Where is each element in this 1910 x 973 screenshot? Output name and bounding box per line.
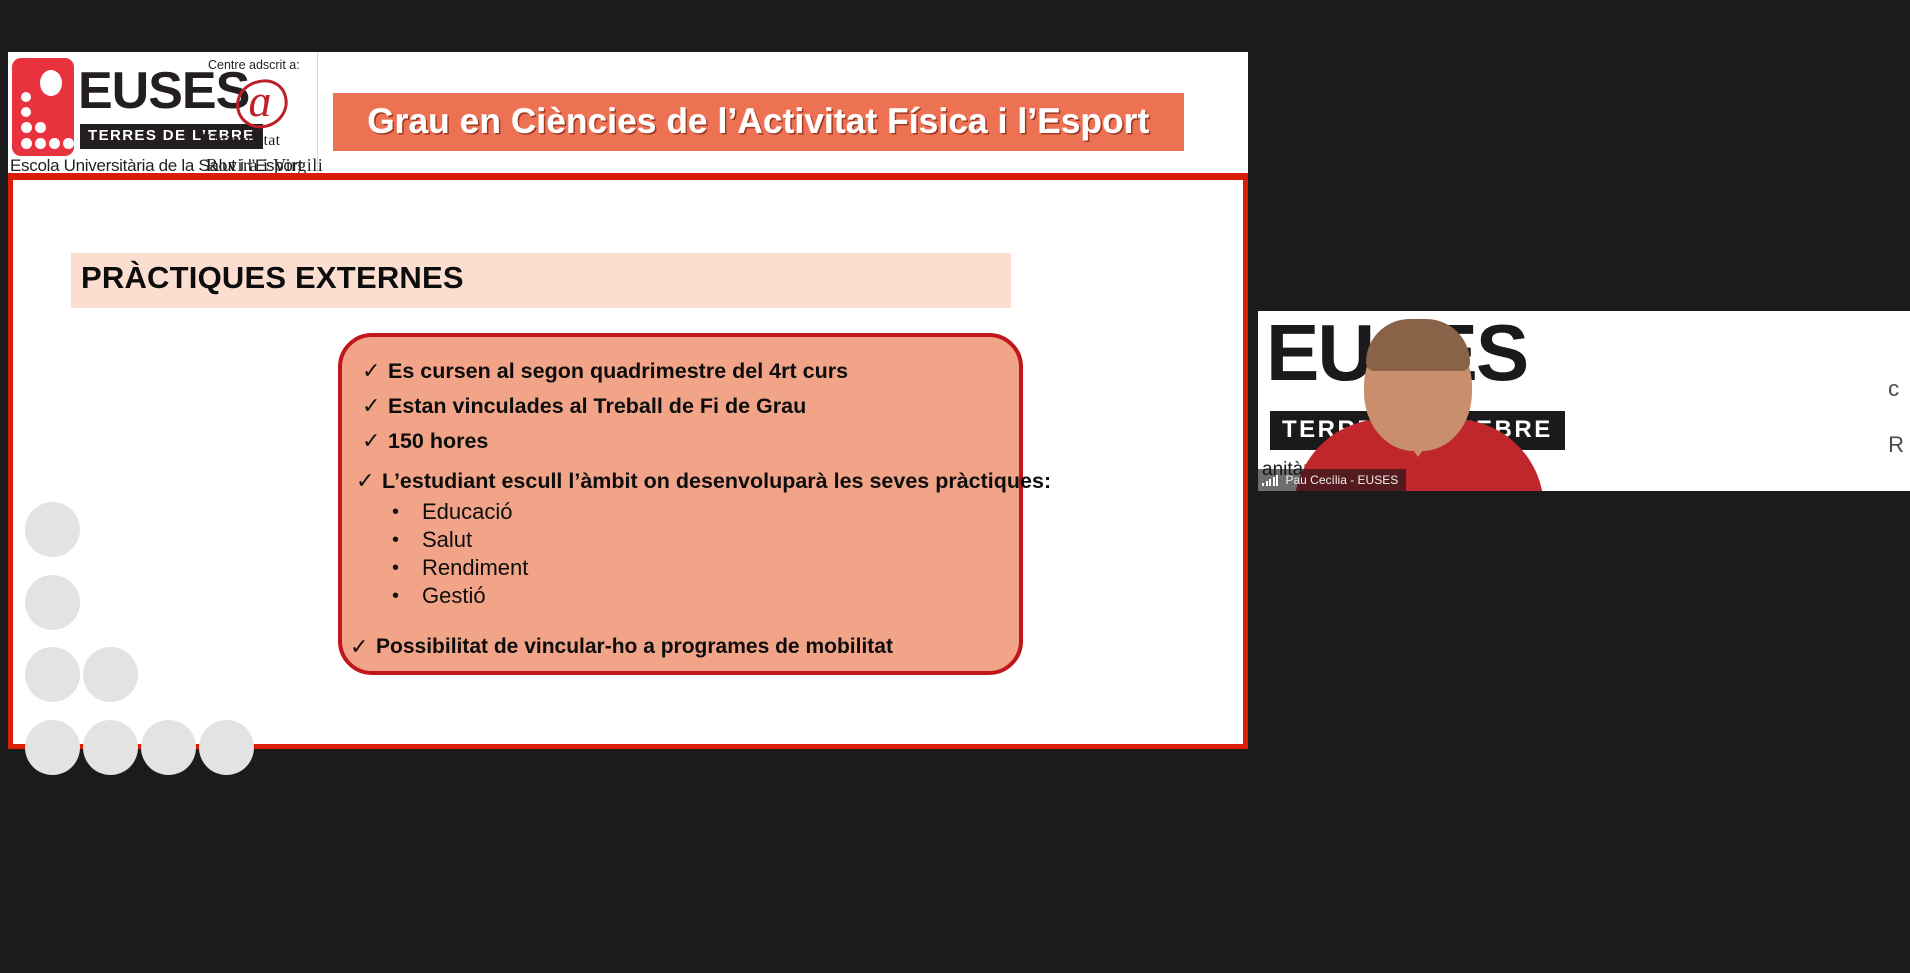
dice-dot [40,70,62,96]
checklist-item: ✓ Es cursen al segon quadrimestre del 4r… [362,358,848,384]
centre-adscrit-label: Centre adscrit a: [208,58,300,72]
sub-bullet-label: Salut [422,527,472,553]
dice-dot [21,138,32,149]
dice-dot [21,92,31,102]
bullet-icon: • [392,555,422,581]
euses-dice-mark [12,58,74,156]
decorative-circle [25,575,80,630]
sub-bullet-label: Gestió [422,583,486,609]
checklist-item-label: Es cursen al segon quadrimestre del 4rt … [388,358,848,384]
decorative-circle [199,720,254,775]
checklist-item-label: Possibilitat de vincular-ho a programes … [376,634,893,660]
section-heading-text: PRÀCTIQUES EXTERNES [81,260,464,296]
video-feed: EUSES TERRES DE L’EBRE anitàri c R [1258,311,1910,491]
bullet-icon: • [392,583,422,609]
degree-title-text: Grau en Ciències de l’Activitat Física i… [368,102,1150,142]
slide-header: EUSES TERRES DE L’EBRE Centre adscrit a:… [8,52,1248,174]
slide-body: PRÀCTIQUES EXTERNES ✓ Es cursen al segon… [8,180,1248,749]
presentation-slide: EUSES TERRES DE L’EBRE Centre adscrit a:… [8,52,1248,749]
checklist-item: ✓ 150 hores [362,428,488,454]
participant-name-text: Pau Cecília - EUSES [1286,473,1399,487]
dice-dot [35,122,46,133]
checklist-item: ✓ Estan vinculades al Treball de Fi de G… [362,393,806,419]
sub-bullet-item: • Educació [392,499,513,525]
sub-bullet-label: Rendiment [422,555,528,581]
dice-dot [35,138,46,149]
participant-video-tile[interactable]: EUSES TERRES DE L’EBRE anitàri c R Pau C… [1258,311,1910,491]
background-letter-r: R [1888,417,1904,473]
screen-share-stage: EUSES TERRES DE L’EBRE Centre adscrit a:… [0,0,1910,973]
decorative-circle [83,720,138,775]
background-right-letters: c R [1888,361,1904,473]
checklist-item-label: Estan vinculades al Treball de Fi de Gra… [388,393,806,419]
decorative-circle [25,647,80,702]
check-icon: ✓ [362,358,388,384]
degree-title-banner: Grau en Ciències de l’Activitat Física i… [333,93,1184,151]
checklist-item: ✓ Possibilitat de vincular-ho a programe… [350,634,893,660]
urv-alpha-mark: ɑ [232,74,288,128]
check-icon: ✓ [350,634,376,660]
signal-bars-icon [1262,475,1280,486]
background-letter-c: c [1888,361,1904,417]
sub-bullet-item: • Salut [392,527,472,553]
header-divider-rule [8,173,1248,180]
bullet-icon: • [392,499,422,525]
dice-dot [21,122,32,133]
decorative-circle [25,720,80,775]
dice-dot [49,138,60,149]
check-icon: ✓ [362,428,388,454]
decorative-circle [83,647,138,702]
checklist-item: ✓ L’estudiant escull l’àmbit on desenvol… [356,468,1051,494]
content-callout-box: ✓ Es cursen al segon quadrimestre del 4r… [338,333,1023,675]
decorative-circle [25,502,80,557]
sub-bullet-item: • Gestió [392,583,486,609]
checklist-item-label: L’estudiant escull l’àmbit on desenvolup… [382,468,1051,494]
bullet-icon: • [392,527,422,553]
sub-bullet-item: • Rendiment [392,555,528,581]
dice-dot [21,107,31,117]
decorative-circle [141,720,196,775]
participant-name-label: Pau Cecília - EUSES [1258,469,1406,491]
dice-dot [63,138,74,149]
sub-bullet-label: Educació [422,499,513,525]
checklist-item-label: 150 hores [388,428,488,454]
check-icon: ✓ [356,468,382,494]
check-icon: ✓ [362,393,388,419]
urv-universitat-label: Universitat [206,132,318,150]
